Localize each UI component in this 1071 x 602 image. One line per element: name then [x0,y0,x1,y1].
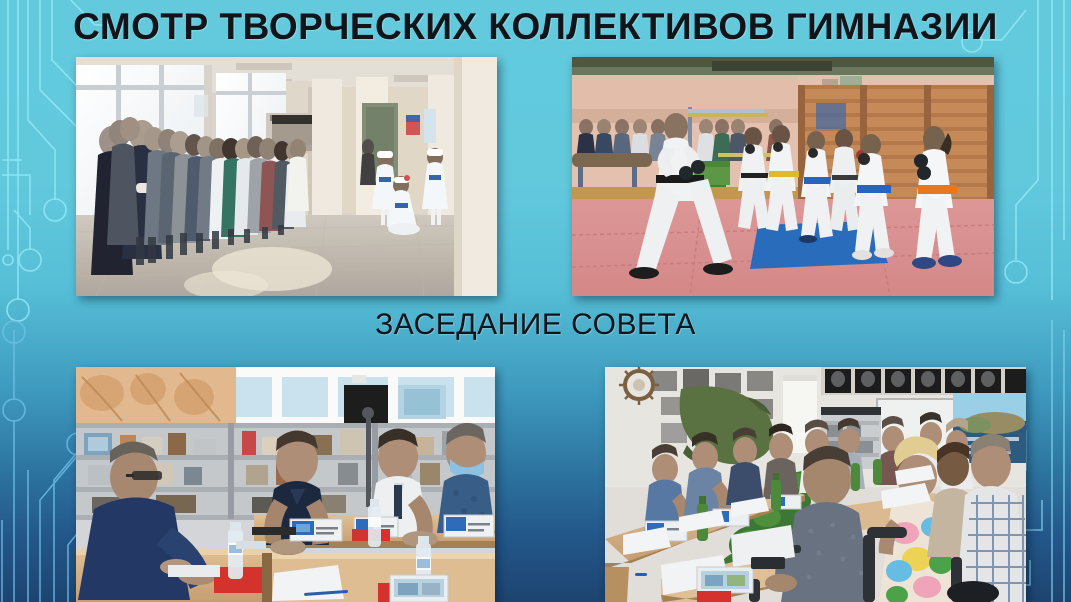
page-title: СМОТР ТВОРЧЕСКИХ КОЛЛЕКТИВОВ ГИМНАЗИИ [0,5,1071,49]
photo-top-right[interactable] [572,57,994,296]
photo-bottom-left[interactable] [76,367,495,602]
section-title: ЗАСЕДАНИЕ СОВЕТА [0,305,1071,345]
presentation-slide: СМОТР ТВОРЧЕСКИХ КОЛЛЕКТИВОВ ГИМНАЗИИ ЗА… [0,0,1071,602]
photo-top-left[interactable] [76,57,497,296]
photo-bottom-right[interactable] [605,367,1026,602]
